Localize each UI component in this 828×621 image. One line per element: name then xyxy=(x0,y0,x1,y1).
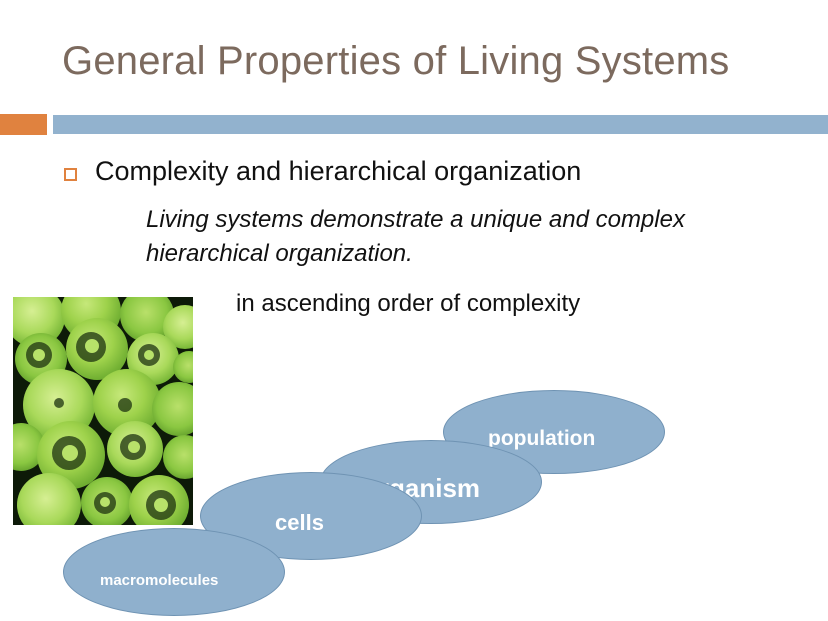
subtitle-italic-text: Living systems demonstrate a unique and … xyxy=(146,203,786,271)
hierarchy-label-macromolecules: macromolecules xyxy=(100,572,218,589)
algae-micrograph-image xyxy=(13,297,193,525)
hierarchy-ellipse-macromolecules: macromolecules xyxy=(63,528,285,616)
bullet-item-label: Complexity and hierarchical organization xyxy=(95,155,581,189)
page-title: General Properties of Living Systems xyxy=(62,38,782,84)
slide-canvas: General Properties of Living Systems Com… xyxy=(0,0,828,621)
subtitle-plain-text: in ascending order of complexity xyxy=(236,288,580,319)
hierarchy-label-cells: cells xyxy=(275,510,324,536)
bullet-item: Complexity and hierarchical organization xyxy=(64,155,581,189)
algae-micrograph-svg xyxy=(13,297,193,525)
hierarchy-label-population: population xyxy=(488,427,595,451)
accent-bar-blue xyxy=(53,115,828,134)
accent-bar-orange xyxy=(0,114,47,135)
bullet-square-icon xyxy=(64,168,77,181)
